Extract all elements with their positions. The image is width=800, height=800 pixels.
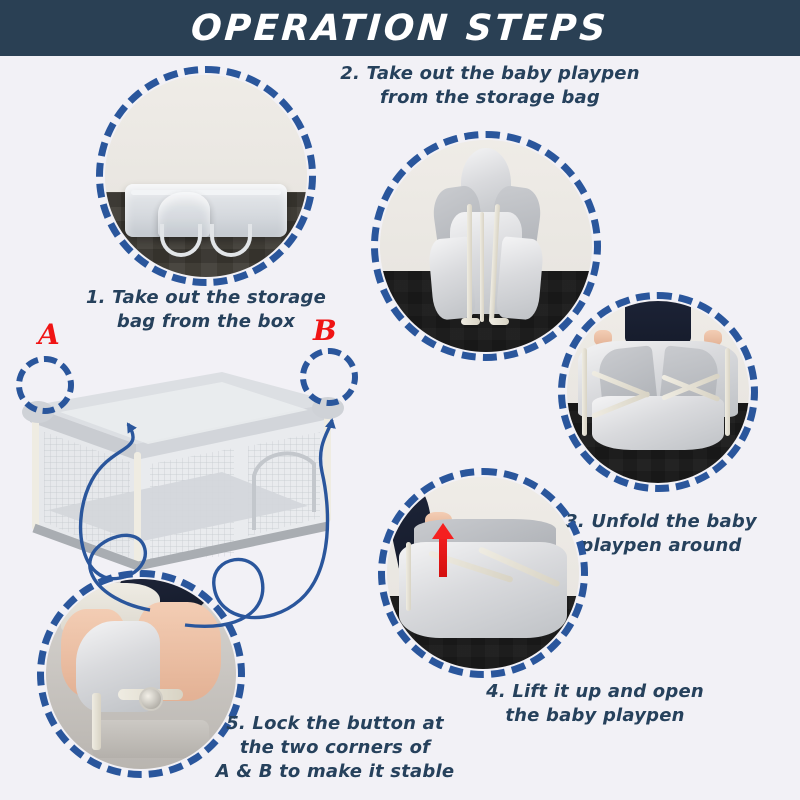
page-title: OPERATION STEPS — [190, 8, 610, 49]
label-a: B — [313, 314, 337, 347]
step-1-photo-circle — [96, 66, 316, 286]
step-3-caption: 3. Unfold the baby playpen around — [556, 510, 766, 558]
corner-marker-a — [300, 348, 358, 406]
step-4-dashed-ring — [378, 468, 588, 678]
corner-marker-b — [16, 356, 74, 414]
step-4-caption: 4. Lift it up and open the baby playpen — [470, 680, 720, 728]
header-bar: OPERATION STEPS — [0, 0, 800, 56]
label-b: A — [38, 318, 60, 351]
step-4-photo-circle — [378, 468, 588, 678]
step-1-dashed-ring — [96, 66, 316, 286]
step-3-dashed-ring — [558, 292, 758, 492]
step-2-caption: 2. Take out the baby playpen from the st… — [325, 62, 655, 110]
step-5-caption: 5. Lock the button at the two corners of… — [185, 712, 485, 783]
playpen-product-diagram: A B — [8, 360, 368, 620]
step-1-caption: 1. Take out the storage bag from the box — [56, 286, 356, 334]
infographic-stage: OPERATION STEPS 1. Take out the storage … — [0, 0, 800, 800]
step-3-photo-circle — [558, 292, 758, 492]
